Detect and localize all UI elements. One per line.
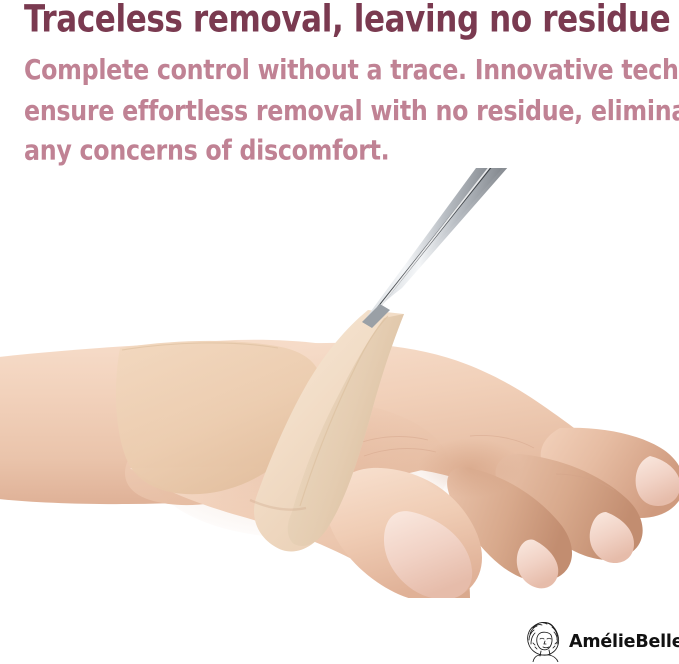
tweezers — [362, 168, 530, 328]
marketing-copy-block: Traceless removal, leaving no residue Co… — [24, 0, 664, 152]
product-marketing-image: Traceless removal, leaving no residue Co… — [0, 0, 679, 664]
brand-name: AmélieBelle — [569, 632, 679, 652]
tweezer-arm-upper — [384, 168, 530, 302]
body-copy: Complete control without a trace. Innova… — [24, 34, 658, 171]
hand-with-tweezers-illustration — [0, 168, 679, 598]
brand-portrait-icon — [522, 616, 564, 662]
body-copy-line: any concerns of discomfort. — [24, 130, 658, 170]
product-photo — [0, 168, 679, 598]
body-copy-line: Complete control without a trace. Innova… — [24, 50, 658, 90]
brand-wordmark: AmélieBelle ™ — [569, 626, 679, 652]
brand-logo: AmélieBelle ™ — [522, 615, 674, 663]
knuckle-shading — [418, 438, 522, 498]
body-copy-line: ensure effortless removal with no residu… — [24, 90, 658, 130]
